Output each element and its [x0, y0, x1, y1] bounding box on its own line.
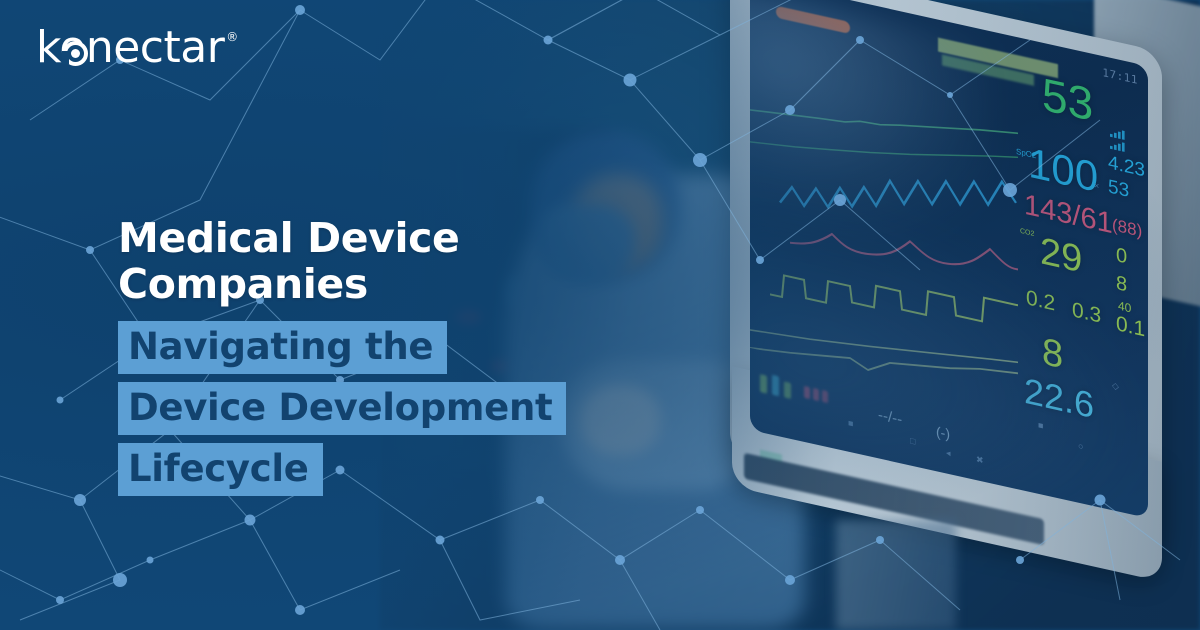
page-title: Medical Device Companies: [118, 216, 738, 308]
registered-trademark-symbol: ®: [226, 30, 238, 44]
title-line-1: Medical Device: [118, 214, 459, 262]
subtitle-row-3: Lifecycle: [118, 443, 738, 504]
brand-logo-text: konectar: [36, 26, 224, 70]
subtitle-line-1: Navigating the: [118, 321, 447, 374]
subtitle-line-2: Device Development: [118, 382, 566, 435]
brand-logo[interactable]: konectar ®: [36, 26, 238, 70]
subtitle-line-3: Lifecycle: [118, 443, 323, 496]
headline-block: Medical Device Companies Navigating the …: [118, 216, 738, 504]
banner-root: 17:11: [0, 0, 1200, 630]
title-line-2: Companies: [118, 262, 738, 308]
subtitle-row-2: Device Development: [118, 382, 738, 443]
ring-dot-icon: [63, 41, 88, 66]
subtitle-row-1: Navigating the: [118, 321, 738, 382]
subtitle-block: Navigating the Device Development Lifecy…: [118, 321, 738, 504]
